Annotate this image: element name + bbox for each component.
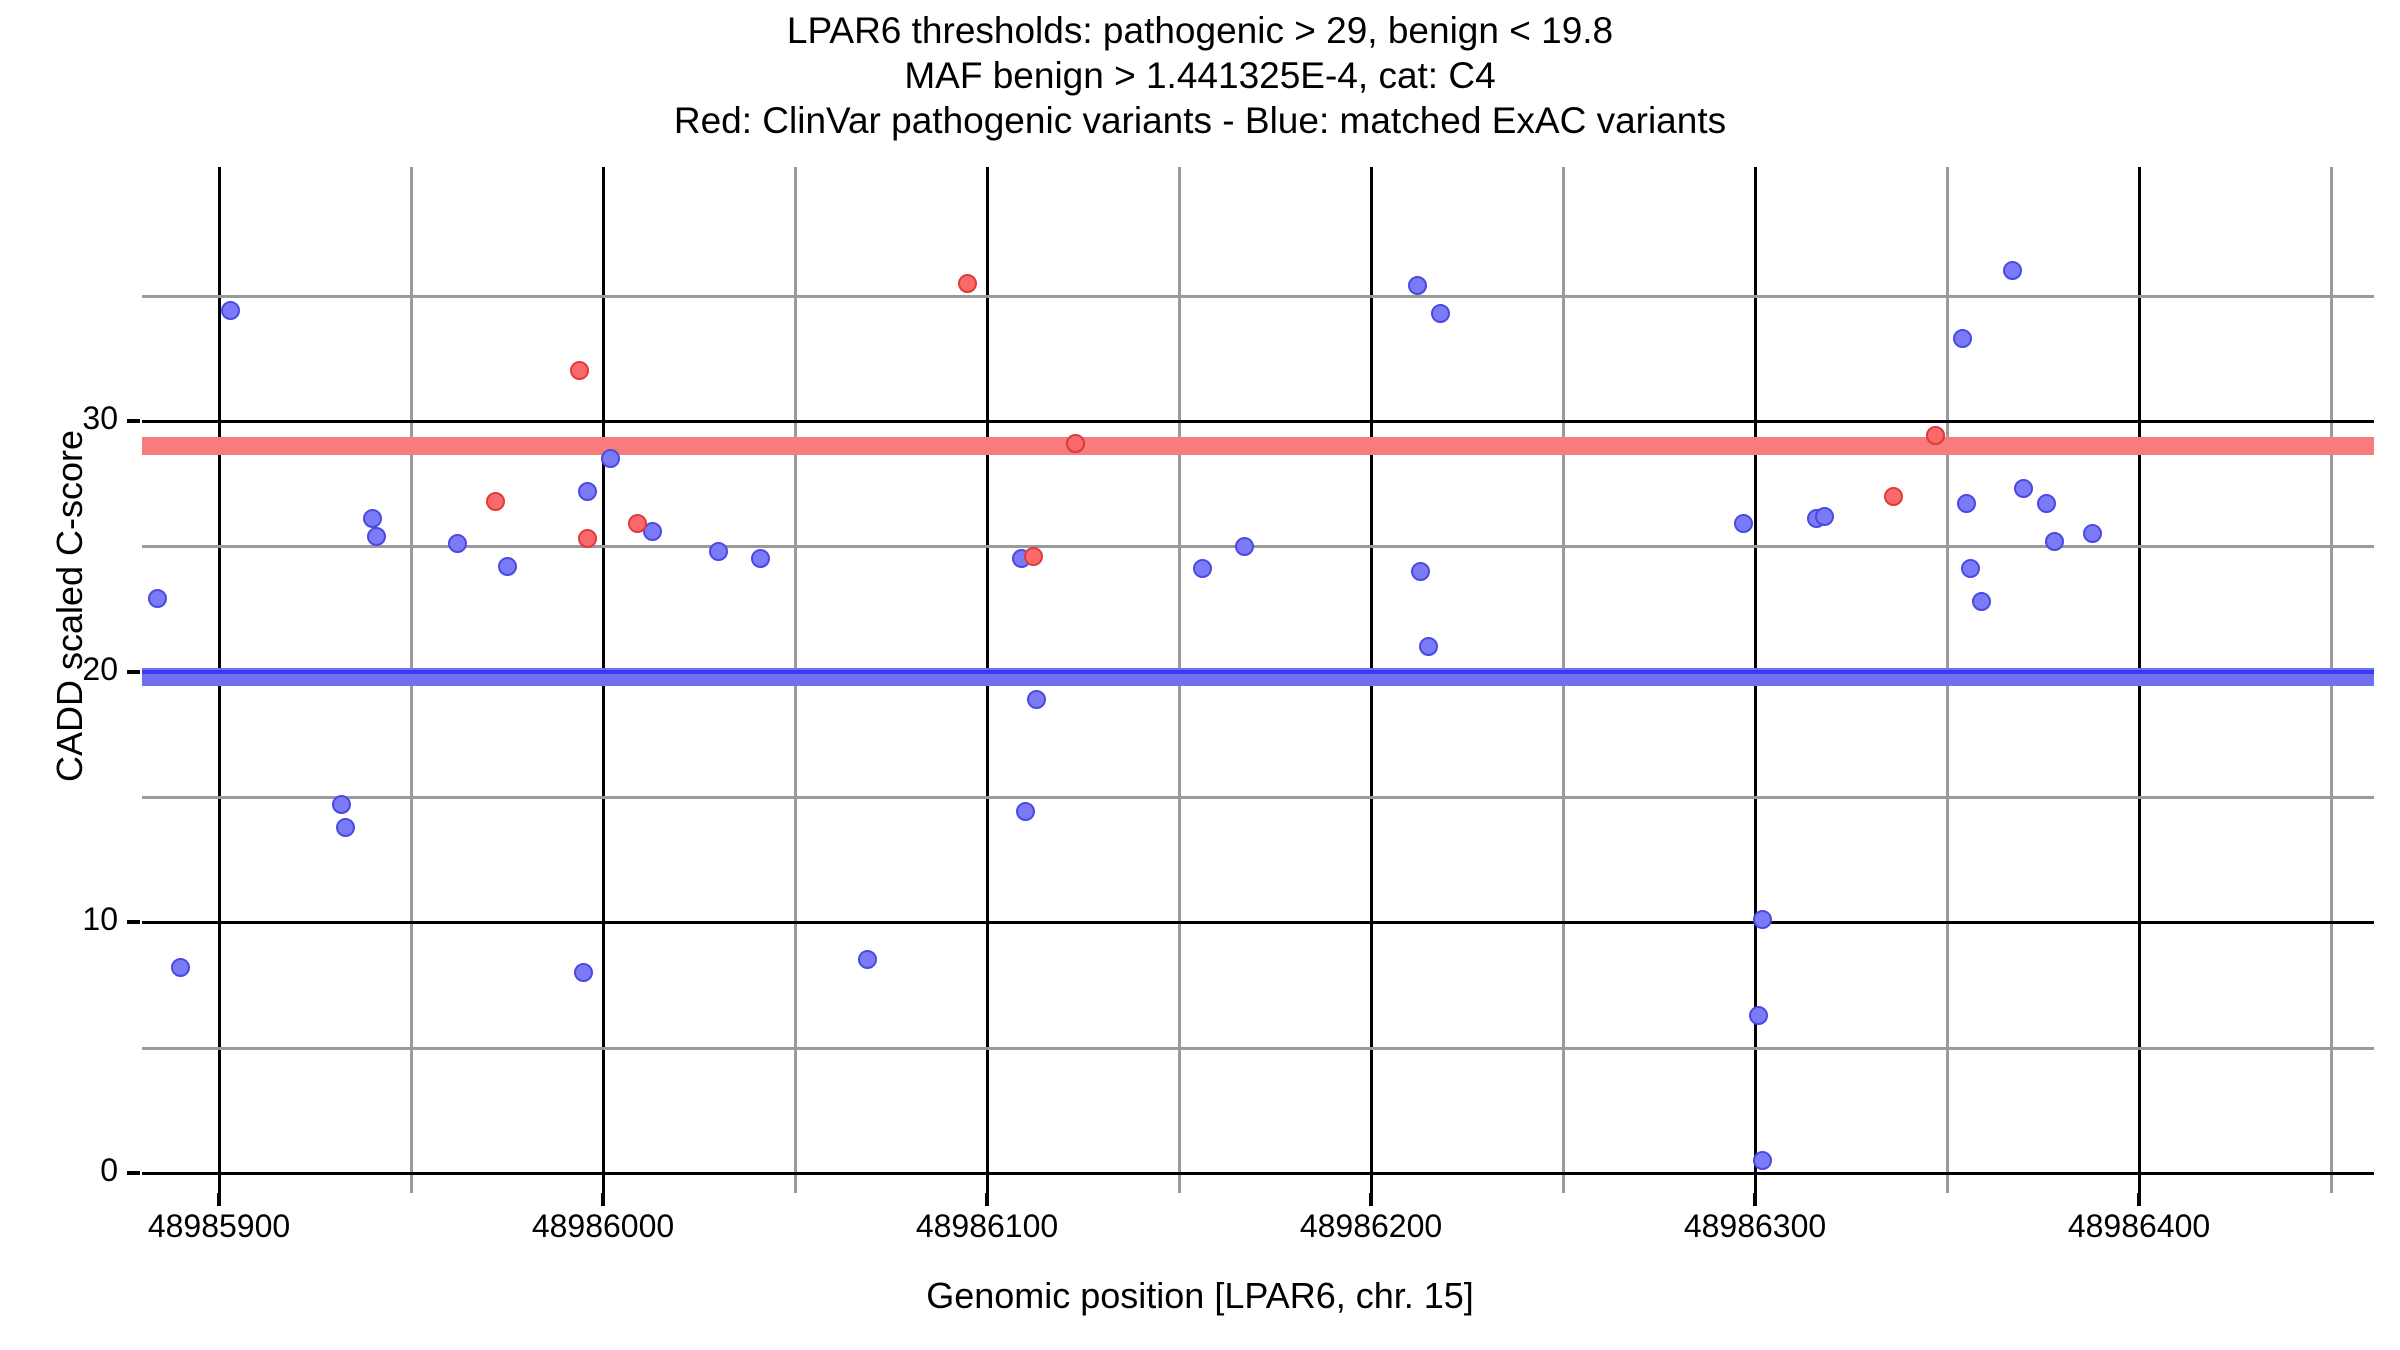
cadd-scatter-figure: LPAR6 thresholds: pathogenic > 29, benig… — [0, 0, 2400, 1350]
exac-variant-point[interactable] — [336, 818, 355, 837]
pathogenic-variant-point[interactable] — [1024, 547, 1043, 566]
y-axis-tick — [127, 670, 140, 674]
exac-variant-point[interactable] — [1193, 559, 1212, 578]
exac-variant-point[interactable] — [363, 509, 382, 528]
exac-variant-point[interactable] — [2037, 494, 2056, 513]
horizontal-gridline-major — [142, 420, 2374, 423]
horizontal-gridline-minor — [142, 295, 2374, 298]
exac-variant-point[interactable] — [148, 589, 167, 608]
x-axis-tick — [985, 1193, 989, 1206]
exac-variant-point[interactable] — [574, 963, 593, 982]
pathogenic-variant-point[interactable] — [486, 492, 505, 511]
title-line-1: LPAR6 thresholds: pathogenic > 29, benig… — [0, 8, 2400, 53]
x-axis-tick-label: 48986200 — [1241, 1208, 1501, 1245]
exac-variant-point[interactable] — [498, 557, 517, 576]
y-axis-title: CADD scaled C-score — [49, 206, 91, 1006]
horizontal-gridline-minor — [142, 1047, 2374, 1050]
exac-variant-point[interactable] — [221, 301, 240, 320]
chart-title-block: LPAR6 thresholds: pathogenic > 29, benig… — [0, 8, 2400, 143]
x-axis-tick — [217, 1193, 221, 1206]
exac-variant-point[interactable] — [1753, 910, 1772, 929]
pathogenic-variant-point[interactable] — [1066, 434, 1085, 453]
pathogenic-variant-point[interactable] — [958, 274, 977, 293]
y-axis-tick — [127, 1171, 140, 1175]
pathogenic-threshold-band — [142, 437, 2374, 455]
exac-variant-point[interactable] — [1419, 637, 1438, 656]
exac-variant-point[interactable] — [751, 549, 770, 568]
exac-variant-point[interactable] — [2014, 479, 2033, 498]
x-axis-tick — [2137, 1193, 2141, 1206]
exac-variant-point[interactable] — [601, 449, 620, 468]
exac-variant-point[interactable] — [1749, 1006, 1768, 1025]
title-line-2: MAF benign > 1.441325E-4, cat: C4 — [0, 53, 2400, 98]
exac-variant-point[interactable] — [1953, 329, 1972, 348]
y-axis-tick-label: 0 — [0, 1152, 118, 1189]
exac-variant-point[interactable] — [1431, 304, 1450, 323]
title-line-3: Red: ClinVar pathogenic variants - Blue:… — [0, 98, 2400, 143]
plot-panel — [142, 167, 2374, 1193]
exac-variant-point[interactable] — [1753, 1151, 1772, 1170]
plot-area — [142, 167, 2374, 1193]
x-axis-tick-label: 48986000 — [473, 1208, 733, 1245]
exac-variant-point[interactable] — [1957, 494, 1976, 513]
x-axis-tick-label: 48986300 — [1625, 1208, 1885, 1245]
benign-threshold-line — [142, 670, 2374, 674]
exac-variant-point[interactable] — [2045, 532, 2064, 551]
pathogenic-variant-point[interactable] — [1884, 487, 1903, 506]
exac-variant-point[interactable] — [1815, 507, 1834, 526]
exac-variant-point[interactable] — [1027, 690, 1046, 709]
exac-variant-point[interactable] — [1972, 592, 1991, 611]
exac-variant-point[interactable] — [171, 958, 190, 977]
y-axis-tick — [127, 920, 140, 924]
exac-variant-point[interactable] — [858, 950, 877, 969]
horizontal-gridline-major — [142, 921, 2374, 924]
x-axis-tick — [601, 1193, 605, 1206]
exac-variant-point[interactable] — [332, 795, 351, 814]
exac-variant-point[interactable] — [1734, 514, 1753, 533]
x-axis-tick-label: 48985900 — [89, 1208, 349, 1245]
exac-variant-point[interactable] — [578, 482, 597, 501]
exac-variant-point[interactable] — [1016, 802, 1035, 821]
pathogenic-variant-point[interactable] — [570, 361, 589, 380]
horizontal-gridline-major — [142, 1172, 2374, 1175]
x-axis-tick — [1753, 1193, 1757, 1206]
exac-variant-point[interactable] — [367, 527, 386, 546]
exac-variant-point[interactable] — [2083, 524, 2102, 543]
x-axis-tick-label: 48986400 — [2009, 1208, 2269, 1245]
horizontal-gridline-minor — [142, 796, 2374, 799]
x-axis-tick-label: 48986100 — [857, 1208, 1117, 1245]
x-axis-tick — [1369, 1193, 1373, 1206]
exac-variant-point[interactable] — [1961, 559, 1980, 578]
exac-variant-point[interactable] — [1411, 562, 1430, 581]
exac-variant-point[interactable] — [448, 534, 467, 553]
x-axis-title: Genomic position [LPAR6, chr. 15] — [0, 1275, 2400, 1317]
exac-variant-point[interactable] — [1408, 276, 1427, 295]
exac-variant-point[interactable] — [1235, 537, 1254, 556]
exac-variant-point[interactable] — [709, 542, 728, 561]
exac-variant-point[interactable] — [2003, 261, 2022, 280]
y-axis-tick — [127, 419, 140, 423]
horizontal-gridline-minor — [142, 545, 2374, 548]
